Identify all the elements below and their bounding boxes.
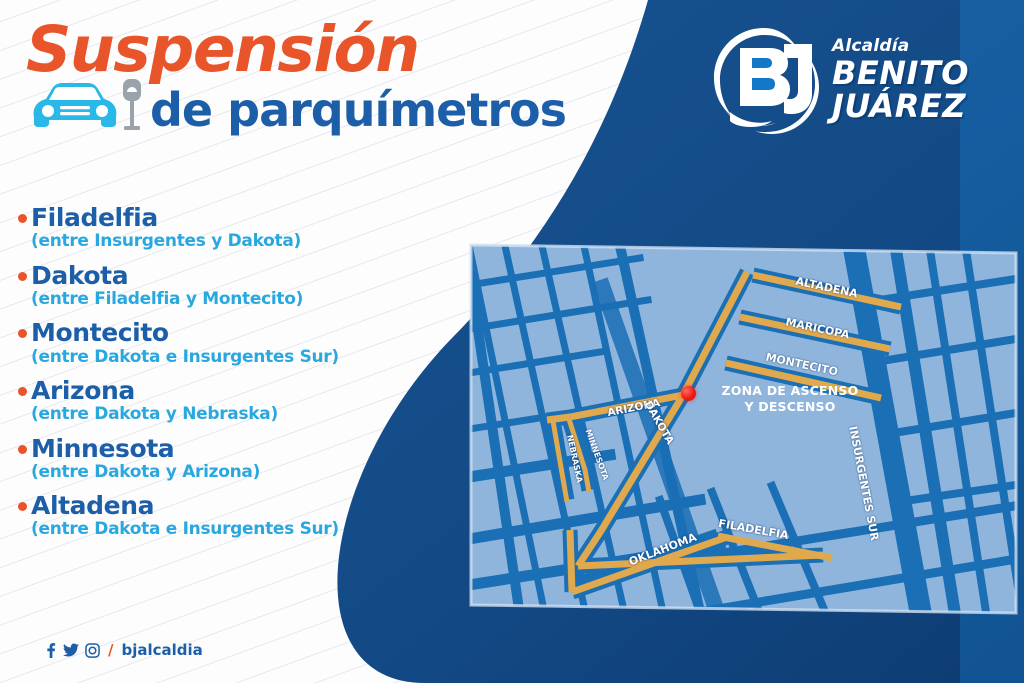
map-street-label-minnesota: MINNESOTA [584,428,611,481]
facebook-icon[interactable] [44,643,57,658]
brand-name-line2: JUÁREZ [832,90,969,123]
header: Suspensión [26,18,586,135]
parking-meter-icon [123,79,141,130]
map-street-label-altadena: ALTADENA [794,275,859,301]
bullet-icon [18,214,27,223]
street-name: Arizona [31,378,135,404]
poster-canvas: Suspensión [0,0,1024,683]
suspended-streets-list: Filadelfia (entre Insurgentes y Dakota) … [18,205,363,551]
brand-name-line1: BENITO [832,57,969,90]
map-street-label-oklahoma: OKLAHOMA [627,531,698,569]
brand-text: Alcaldía BENITO JUÁREZ [832,38,969,122]
list-item: Altadena (entre Dakota e Insurgentes Sur… [18,493,363,540]
page-title-line1: Suspensión [26,18,586,81]
map-street-label-arizona: ARIZONA [606,397,661,419]
street-name: Filadelfia [31,205,158,231]
street-name: Altadena [31,493,154,519]
list-item: Dakota (entre Filadelfia y Montecito) [18,263,363,310]
map-street-label-filadelfia: FILADELFIA [717,517,789,542]
social-footer: / bjalcaldia [44,641,203,659]
street-name: Montecito [31,320,169,346]
map-street-label-maricopa: MARICOPA [784,315,850,341]
brand-kicker: Alcaldía [832,38,969,55]
bullet-icon [18,329,27,338]
social-separator: / [108,641,113,659]
brand-logo: Alcaldía BENITO JUÁREZ [708,24,969,136]
instagram-icon[interactable] [85,643,100,658]
bullet-icon [18,272,27,281]
zone-marker-icon [681,386,696,401]
zone-marker-label: ZONA DE ASCENSO Y DESCENSO [700,383,880,414]
street-range: (entre Dakota e Insurgentes Sur) [31,519,363,539]
street-range: (entre Dakota e Insurgentes Sur) [31,347,363,367]
street-range: (entre Dakota y Nebraska) [31,404,363,424]
list-item: Montecito (entre Dakota e Insurgentes Su… [18,320,363,367]
list-item: Minnesota (entre Dakota y Arizona) [18,436,363,483]
zone-marker-label-line2: Y DESCENSO [700,399,880,415]
map-street-label-montecito: MONTECITO [764,350,839,378]
bullet-icon [18,502,27,511]
map-street-label-insurgentes-sur: INSURGENTES SUR [846,425,881,542]
map-street-label-nebraska: NEBRASKA [565,434,584,484]
bj-monogram-icon [708,24,820,136]
street-range: (entre Filadelfia y Montecito) [31,289,363,309]
map-street-label-dakota: DAKOTA [642,399,676,446]
twitter-icon[interactable] [63,643,79,658]
header-icons [26,77,146,135]
street-name: Dakota [31,263,128,289]
street-range: (entre Dakota y Arizona) [31,462,363,482]
street-name: Minnesota [31,436,174,462]
list-item: Arizona (entre Dakota y Nebraska) [18,378,363,425]
bullet-icon [18,445,27,454]
list-item: Filadelfia (entre Insurgentes y Dakota) [18,205,363,252]
bullet-icon [18,387,27,396]
social-handle[interactable]: bjalcaldia [121,641,202,659]
zone-marker-label-line1: ZONA DE ASCENSO [700,383,880,399]
street-range: (entre Insurgentes y Dakota) [31,231,363,251]
map-artwork [463,240,1024,620]
page-title-line2: de parquímetros [150,87,566,133]
